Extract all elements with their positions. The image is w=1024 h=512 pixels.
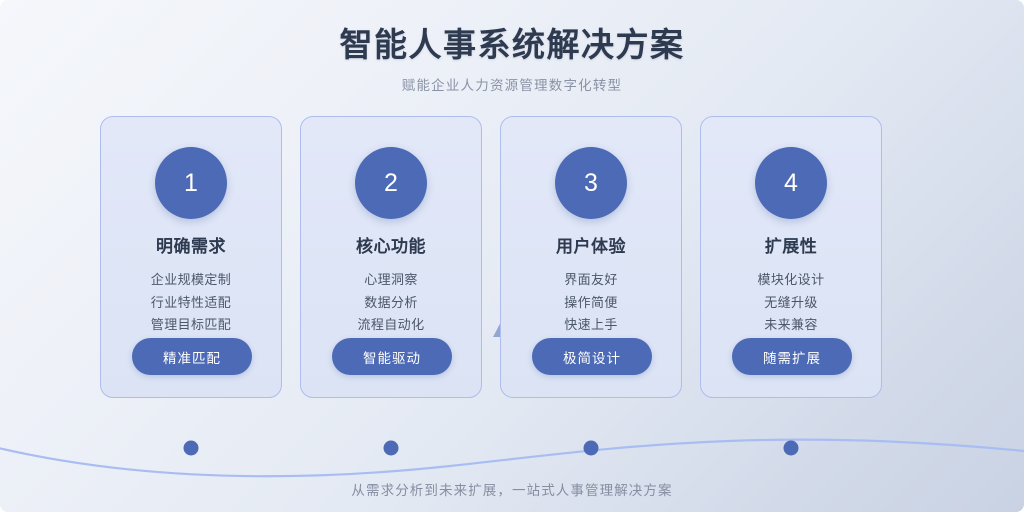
list-item: 快速上手: [564, 315, 618, 335]
step-card-list: 1 明确需求 企业规模定制 行业特性适配 管理目标匹配 精准匹配 2 核心功能 …: [100, 116, 924, 398]
list-item: 模块化设计: [757, 270, 824, 290]
progress-dot-1: [184, 441, 199, 456]
step-number-label: 4: [784, 169, 798, 198]
step-card-items-3: 界面友好 操作简便 快速上手: [564, 270, 618, 335]
infographic-canvas: 智能人事系统解决方案 赋能企业人力资源管理数字化转型 1 明确需求 企业规模定制…: [0, 0, 1024, 512]
progress-dot-3: [584, 441, 599, 456]
step-card-items-4: 模块化设计 无缝升级 未来兼容: [757, 270, 824, 335]
step-number-badge-3: 3: [555, 147, 627, 219]
list-item: 数据分析: [364, 293, 418, 313]
step-number-label: 2: [384, 169, 398, 198]
list-item: 操作简便: [564, 293, 618, 313]
step-card-button-3[interactable]: 极简设计: [532, 338, 652, 375]
list-item: 无缝升级: [764, 293, 818, 313]
progress-dot-4: [784, 441, 799, 456]
step-number-badge-2: 2: [355, 147, 427, 219]
step-card-1[interactable]: 1 明确需求 企业规模定制 行业特性适配 管理目标匹配 精准匹配: [100, 116, 282, 398]
step-card-3[interactable]: 3 用户体验 界面友好 操作简便 快速上手 极简设计: [500, 116, 682, 398]
step-number-badge-1: 1: [155, 147, 227, 219]
step-card-button-4[interactable]: 随需扩展: [732, 338, 852, 375]
step-card-2[interactable]: 2 核心功能 心理洞察 数据分析 流程自动化 智能驱动: [300, 116, 482, 398]
list-item: 心理洞察: [364, 270, 418, 290]
header: 智能人事系统解决方案 赋能企业人力资源管理数字化转型: [0, 24, 1024, 94]
step-card-button-1[interactable]: 精准匹配: [132, 338, 252, 375]
list-item: 行业特性适配: [151, 293, 231, 313]
step-number-label: 1: [184, 169, 198, 198]
step-card-items-2: 心理洞察 数据分析 流程自动化: [357, 270, 424, 335]
list-item: 企业规模定制: [151, 270, 231, 290]
step-number-label: 3: [584, 169, 598, 198]
step-card-title-4: 扩展性: [765, 232, 818, 257]
footer-caption: 从需求分析到未来扩展，一站式人事管理解决方案: [0, 479, 1024, 499]
page-subtitle: 赋能企业人力资源管理数字化转型: [0, 74, 1024, 94]
list-item: 界面友好: [564, 270, 618, 290]
page-title: 智能人事系统解决方案: [0, 24, 1024, 65]
progress-dot-2: [384, 441, 399, 456]
step-card-title-3: 用户体验: [556, 232, 626, 257]
step-number-badge-4: 4: [755, 147, 827, 219]
list-item: 未来兼容: [764, 315, 818, 335]
step-card-items-1: 企业规模定制 行业特性适配 管理目标匹配: [151, 270, 231, 335]
step-card-title-2: 核心功能: [356, 232, 426, 257]
step-card-title-1: 明确需求: [156, 232, 226, 257]
list-item: 流程自动化: [357, 315, 424, 335]
list-item: 管理目标匹配: [151, 315, 231, 335]
step-card-4[interactable]: 4 扩展性 模块化设计 无缝升级 未来兼容 随需扩展: [700, 116, 882, 398]
step-card-button-2[interactable]: 智能驱动: [332, 338, 452, 375]
